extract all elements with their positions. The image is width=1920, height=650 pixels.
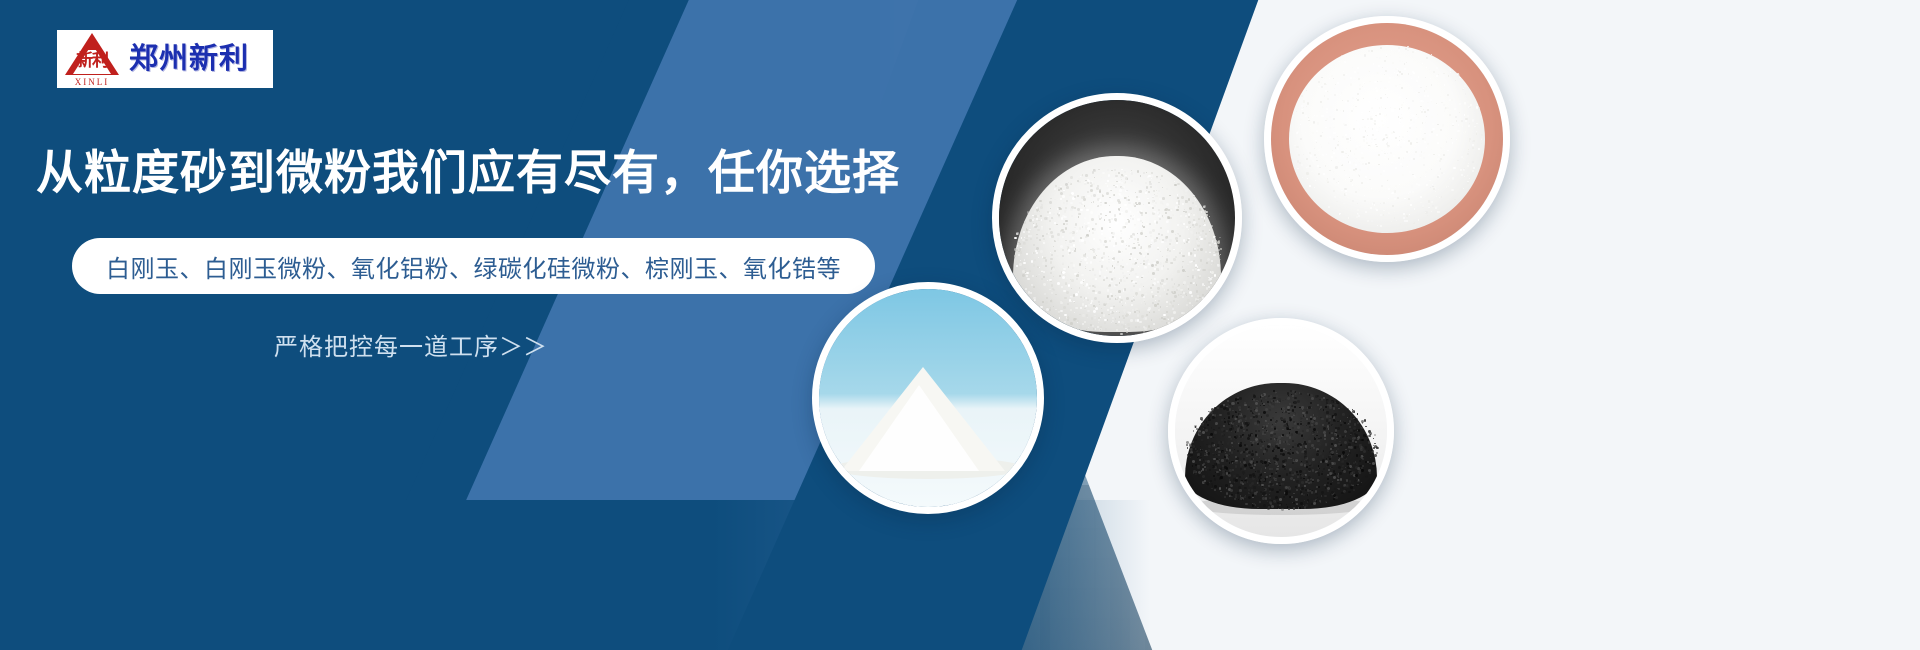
tagline-text: 严格把控每一道工序 [274,334,499,361]
product-image-black-silicon-carbide [1168,318,1394,544]
logo-mark-cn-text: 新利 [61,52,123,69]
promo-banner: 新利 XINLI 郑州新利 从粒度砂到微粉我们应有尽有，任你选择 白刚玉、白刚玉… [0,0,1920,650]
product-image-alumina-powder-cone [812,282,1044,514]
logo-mark-icon: 新利 XINLI [57,30,127,88]
product-image-white-micro-powder [1264,16,1510,262]
blue-bottom-slab [0,500,1150,650]
material-cone-highlight [859,385,979,471]
logo-company-name: 郑州新利 [129,43,249,75]
product-list-text: 白刚玉、白刚玉微粉、氧化铝粉、绿碳化硅微粉、棕刚玉、氧化锆等 [106,249,841,284]
grain-texture [1175,325,1387,537]
logo-mark-en-text: XINLI [57,77,127,87]
tagline-arrows-icon: ＞＞ [499,334,547,361]
tagline[interactable]: 严格把控每一道工序＞＞ [274,327,547,362]
grain-texture [1271,23,1503,255]
triangle-peak-icon [87,39,97,50]
company-logo[interactable]: 新利 XINLI 郑州新利 [57,30,273,88]
page-title: 从粒度砂到微粉我们应有尽有，任你选择 [36,144,900,202]
product-list-pill: 白刚玉、白刚玉微粉、氧化铝粉、绿碳化硅微粉、棕刚玉、氧化锆等 [72,238,875,294]
